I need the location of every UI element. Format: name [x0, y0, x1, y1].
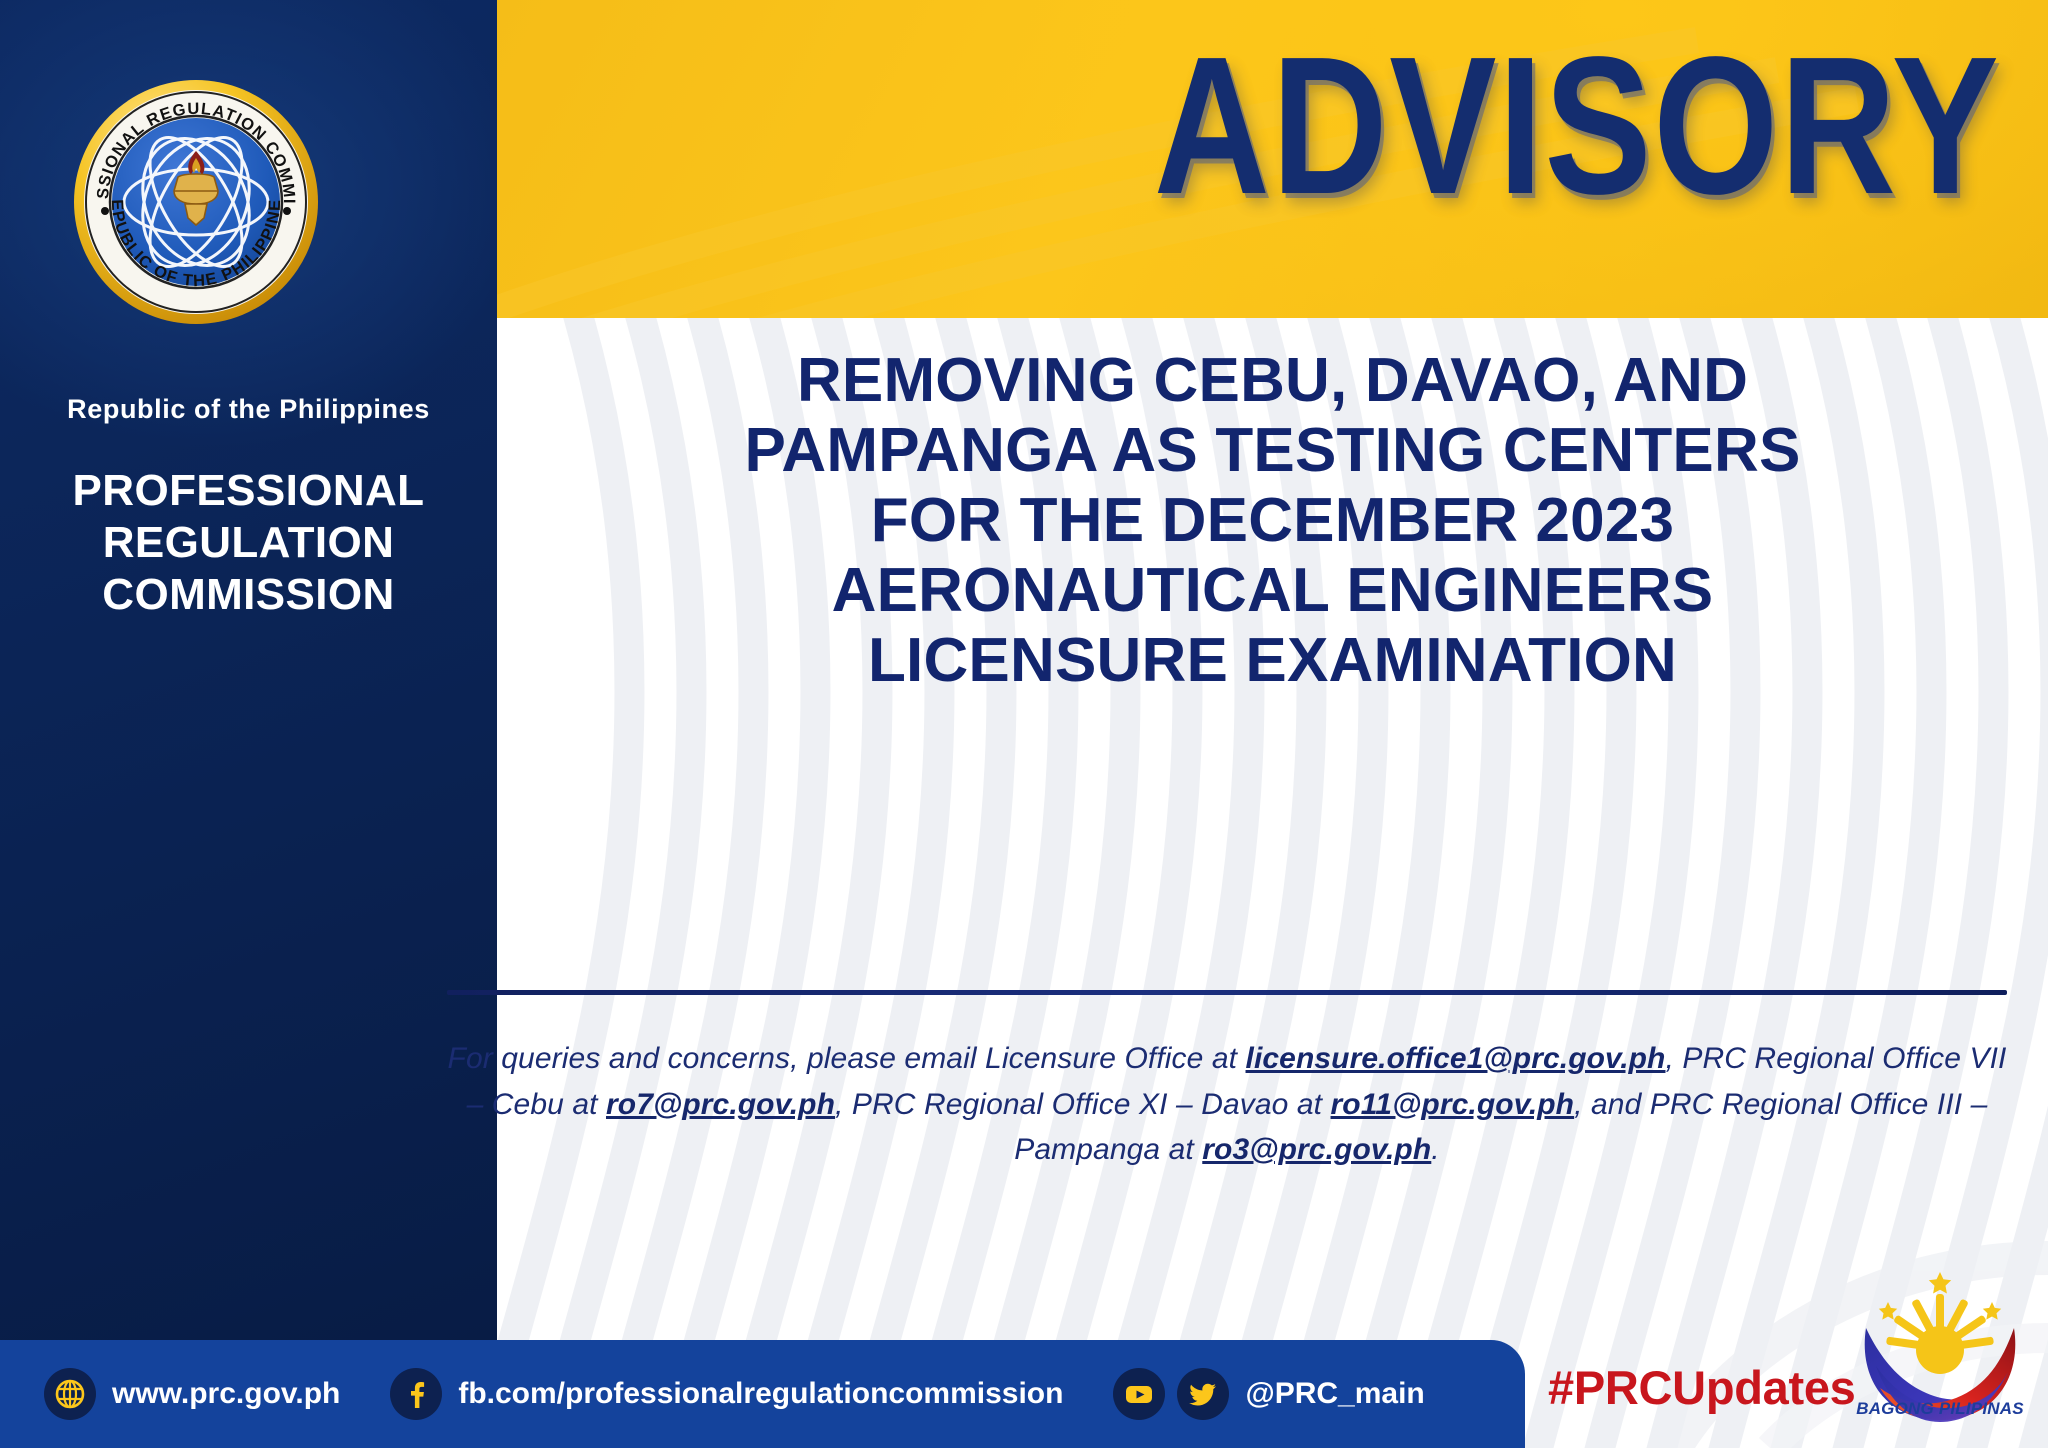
advisory-banner: ADVISORY — [497, 0, 2048, 318]
section-divider — [447, 990, 2007, 995]
agency-line-3: COMMISSION — [0, 569, 497, 621]
footer-youtube[interactable] — [1113, 1368, 1165, 1420]
globe-icon — [44, 1368, 96, 1420]
footer-bar: www.prc.gov.ph fb.com/professionalregula… — [0, 1340, 1525, 1448]
headline-line-2: PAMPANGA AS TESTING CENTERS — [537, 416, 2008, 486]
facebook-label: fb.com/professionalregulationcommission — [458, 1377, 1063, 1411]
agency-name: PROFESSIONAL REGULATION COMMISSION — [0, 465, 497, 621]
footer-twitter[interactable]: @PRC_main — [1177, 1368, 1424, 1420]
email-link-ro7[interactable]: ro7@prc.gov.ph — [606, 1088, 835, 1121]
email-link-ro11[interactable]: ro11@prc.gov.ph — [1331, 1088, 1575, 1121]
email-link-ro3[interactable]: ro3@prc.gov.ph — [1202, 1133, 1431, 1166]
contact-text-5: . — [1431, 1133, 1439, 1166]
sidebar-panel: PROFESSIONAL REGULATION COMMISSION REPUB… — [0, 0, 497, 1340]
main-content: REMOVING CEBU, DAVAO, AND PAMPANGA AS TE… — [497, 318, 2048, 1448]
footer-facebook[interactable]: fb.com/professionalregulationcommission — [390, 1368, 1063, 1420]
twitter-icon — [1177, 1368, 1229, 1420]
headline-line-1: REMOVING CEBU, DAVAO, AND — [537, 346, 2008, 416]
agency-line-1: PROFESSIONAL — [0, 465, 497, 517]
headline-line-5: LICENSURE EXAMINATION — [537, 626, 2008, 696]
contact-note: For queries and concerns, please email L… — [437, 1036, 2017, 1173]
facebook-icon — [390, 1368, 442, 1420]
advisory-poster: PROFESSIONAL REGULATION COMMISSION REPUB… — [0, 0, 2048, 1448]
email-link-licensure[interactable]: licensure.office1@prc.gov.ph — [1246, 1042, 1666, 1075]
youtube-icon — [1113, 1368, 1165, 1420]
republic-label: Republic of the Philippines — [0, 394, 497, 425]
hashtag-label: #PRCUpdates — [1548, 1360, 1856, 1415]
website-label: www.prc.gov.ph — [112, 1377, 340, 1411]
footer-website[interactable]: www.prc.gov.ph — [44, 1368, 340, 1420]
advisory-title: ADVISORY — [1153, 28, 2000, 224]
headline-line-3: FOR THE DECEMBER 2023 — [537, 486, 2008, 556]
bagong-pilipinas-label: BAGONG PILIPINAS — [1852, 1399, 2028, 1419]
contact-text-1: For queries and concerns, please email L… — [448, 1042, 1246, 1075]
headline-line-4: AERONAUTICAL ENGINEERS — [537, 556, 2008, 626]
prc-seal-icon: PROFESSIONAL REGULATION COMMISSION REPUB… — [72, 78, 320, 326]
page-title: REMOVING CEBU, DAVAO, AND PAMPANGA AS TE… — [537, 346, 2008, 696]
contact-text-3: , PRC Regional Office XI – Davao at — [835, 1088, 1331, 1121]
twitter-label: @PRC_main — [1245, 1377, 1424, 1411]
agency-line-2: REGULATION — [0, 517, 497, 569]
